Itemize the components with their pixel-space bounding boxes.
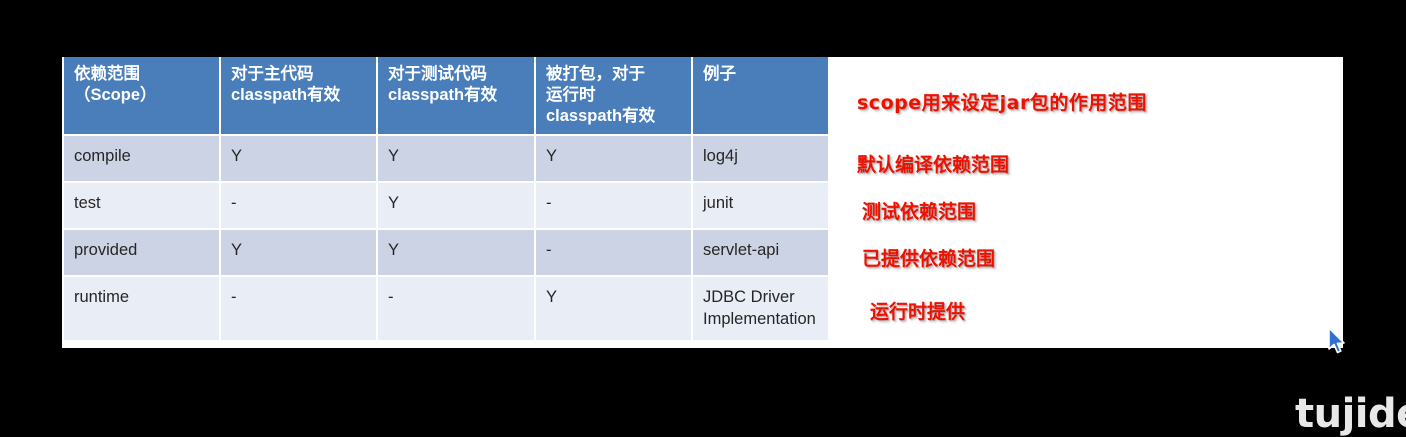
cell-runtime-classpath: - [535, 182, 692, 229]
annotation-test: 测试依赖范围 [862, 197, 976, 224]
cell-main-classpath: Y [220, 135, 377, 182]
table-row: runtime - - Y JDBC Driver Implementation [64, 276, 828, 340]
cell-test-classpath: Y [377, 135, 535, 182]
column-header-runtime-classpath: 被打包，对于 运行时 classpath有效 [535, 57, 692, 135]
column-header-main-classpath: 对于主代码 classpath有效 [220, 57, 377, 135]
slide-canvas: 依赖范围 （Scope） 对于主代码 classpath有效 对于测试代码 cl… [62, 57, 1343, 348]
table-row: provided Y Y - servlet-api [64, 229, 828, 276]
cell-runtime-classpath: Y [535, 135, 692, 182]
cell-scope: test [64, 182, 220, 229]
column-header-scope: 依赖范围 （Scope） [64, 57, 220, 135]
table-header: 依赖范围 （Scope） 对于主代码 classpath有效 对于测试代码 cl… [64, 57, 828, 135]
annotation-runtime: 运行时提供 [870, 297, 965, 324]
watermark-text: tujidelv [1295, 391, 1406, 437]
annotation-compile: 默认编译依赖范围 [857, 150, 1009, 177]
cell-scope: runtime [64, 276, 220, 340]
table-body: compile Y Y Y log4j test - Y - junit pro… [64, 135, 828, 340]
cell-main-classpath: - [220, 182, 377, 229]
dependency-scope-table: 依赖范围 （Scope） 对于主代码 classpath有效 对于测试代码 cl… [64, 57, 828, 340]
cell-test-classpath: Y [377, 229, 535, 276]
table-header-row: 依赖范围 （Scope） 对于主代码 classpath有效 对于测试代码 cl… [64, 57, 828, 135]
screen-root: 依赖范围 （Scope） 对于主代码 classpath有效 对于测试代码 cl… [0, 0, 1406, 411]
cell-runtime-classpath: Y [535, 276, 692, 340]
cell-main-classpath: - [220, 276, 377, 340]
cell-test-classpath: - [377, 276, 535, 340]
cell-scope: compile [64, 135, 220, 182]
cell-runtime-classpath: - [535, 229, 692, 276]
cell-example: servlet-api [692, 229, 828, 276]
table-row: compile Y Y Y log4j [64, 135, 828, 182]
cell-scope: provided [64, 229, 220, 276]
table-row: test - Y - junit [64, 182, 828, 229]
cell-example: log4j [692, 135, 828, 182]
cell-example: junit [692, 182, 828, 229]
column-header-test-classpath: 对于测试代码 classpath有效 [377, 57, 535, 135]
cell-test-classpath: Y [377, 182, 535, 229]
cell-example: JDBC Driver Implementation [692, 276, 828, 340]
column-header-example: 例子 [692, 57, 828, 135]
cell-main-classpath: Y [220, 229, 377, 276]
annotation-scope-purpose: scope用来设定jar包的作用范围 [857, 88, 1147, 115]
annotation-provided: 已提供依赖范围 [862, 244, 995, 271]
